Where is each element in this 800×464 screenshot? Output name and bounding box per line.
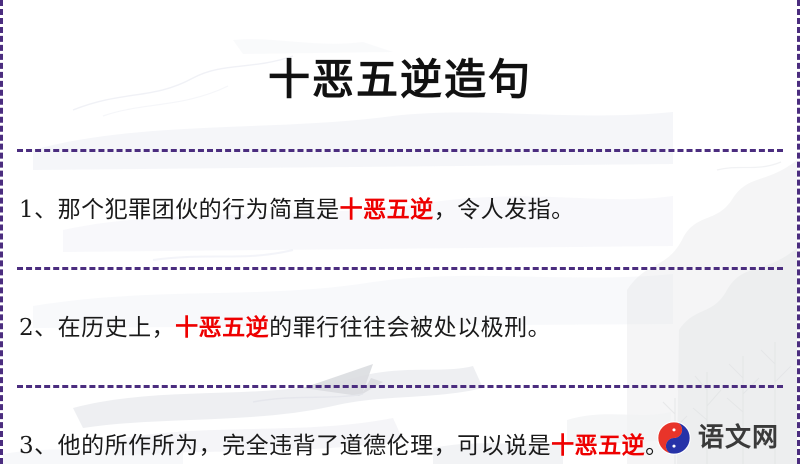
divider-top [17,149,783,152]
site-logo-text: 语文网 [698,425,779,451]
sentence-3-before: 他的所作所为，完全违背了道德伦理，可以说是 [58,433,552,459]
content-area: 十恶五逆造句 1、那个犯罪团伙的行为简直是十恶五逆，令人发指。 2、在历史上，十… [3,28,797,464]
sentence-3-highlight: 十恶五逆 [551,432,645,459]
sentence-2-after: 的罪行往往会被处以极刑。 [269,315,551,341]
sentence-1-after: ，令人发指。 [434,197,575,223]
sentence-2-highlight: 十恶五逆 [175,314,269,341]
site-logo[interactable]: 语文网 [656,420,779,456]
sentence-2-index: 2、 [19,315,58,341]
sentence-1-highlight: 十恶五逆 [340,196,434,223]
page-title: 十恶五逆造句 [17,28,783,120]
yinyang-circle-logo-icon [656,420,692,456]
sentence-3-index: 3、 [19,433,58,459]
divider-1 [17,267,783,270]
example-sentence-1: 1、那个犯罪团伙的行为简直是十恶五逆，令人发指。 [17,175,783,244]
divider-2 [17,385,783,388]
sentence-2-before: 在历史上， [58,315,176,341]
example-sentence-2: 2、在历史上，十恶五逆的罪行往往会被处以极刑。 [17,293,783,362]
page-root: 十恶五逆造句 1、那个犯罪团伙的行为简直是十恶五逆，令人发指。 2、在历史上，十… [0,0,800,464]
sentence-1-index: 1、 [19,197,58,223]
sentence-1-before: 那个犯罪团伙的行为简直是 [58,197,340,223]
